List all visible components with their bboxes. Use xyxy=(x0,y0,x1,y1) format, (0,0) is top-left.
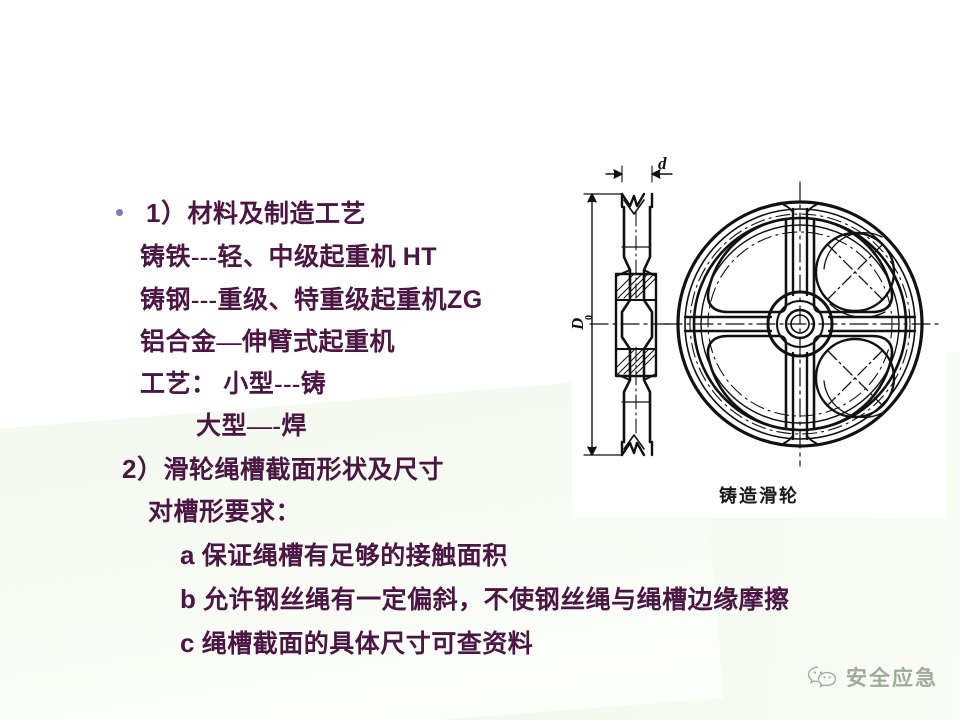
diagram-caption: 铸造滑轮 xyxy=(572,482,946,508)
line-8-text: 对槽形要求： xyxy=(148,499,301,526)
line-11-text: 绳槽截面的具体尺寸可查资料 xyxy=(202,631,534,658)
slide-canvas: 1）材料及制造工艺 铸铁---轻、中级起重机 HT 铸钢---重级、特重级起重机… xyxy=(0,0,960,720)
text-line-10: b 允许钢丝绳有一定偏斜，不使钢丝绳与绳槽边缘摩擦 xyxy=(180,578,844,622)
line-2-code: HT xyxy=(403,243,437,271)
line-1-marker: 1） xyxy=(146,198,187,228)
line-7-marker: 2） xyxy=(122,454,163,484)
line-3-code: ZG xyxy=(447,286,483,314)
line-10-text: 允许钢丝绳有一定偏斜，不使钢丝绳与绳槽边缘摩擦 xyxy=(203,587,790,614)
line-1-text: 材料及制造工艺 xyxy=(187,201,366,228)
line-4-text: 铝合金—伸臂式起重机 xyxy=(140,329,395,356)
pulley-drawing-svg: D 0 d xyxy=(572,152,946,518)
text-line-9: a 保证绳槽有足够的接触面积 xyxy=(180,534,844,578)
watermark: 安全应急 xyxy=(807,662,938,692)
text-line-11: c 绳槽截面的具体尺寸可查资料 xyxy=(180,622,844,666)
line-6-text: 大型—-焊 xyxy=(196,413,307,440)
watermark-text: 安全应急 xyxy=(846,662,938,692)
line-9-text: 保证绳槽有足够的接触面积 xyxy=(202,543,508,570)
line-7-text: 滑轮绳槽截面形状及尺寸 xyxy=(163,457,444,484)
line-9-marker: a xyxy=(180,540,195,570)
wechat-icon xyxy=(807,665,837,690)
label-outer-diameter-sub: 0 xyxy=(584,315,595,320)
bullet-dot-icon xyxy=(116,209,123,216)
cast-pulley-diagram: D 0 d 铸造滑轮 xyxy=(572,152,946,518)
line-3-text: 铸钢---重级、特重级起重机 xyxy=(140,287,447,314)
line-10-marker: b xyxy=(180,584,196,614)
label-groove-width: d xyxy=(658,154,667,173)
line-5-text: 工艺： 小型---铸 xyxy=(140,371,326,398)
line-11-marker: c xyxy=(180,628,195,658)
line-2-text: 铸铁---轻、中级起重机 xyxy=(140,244,403,271)
